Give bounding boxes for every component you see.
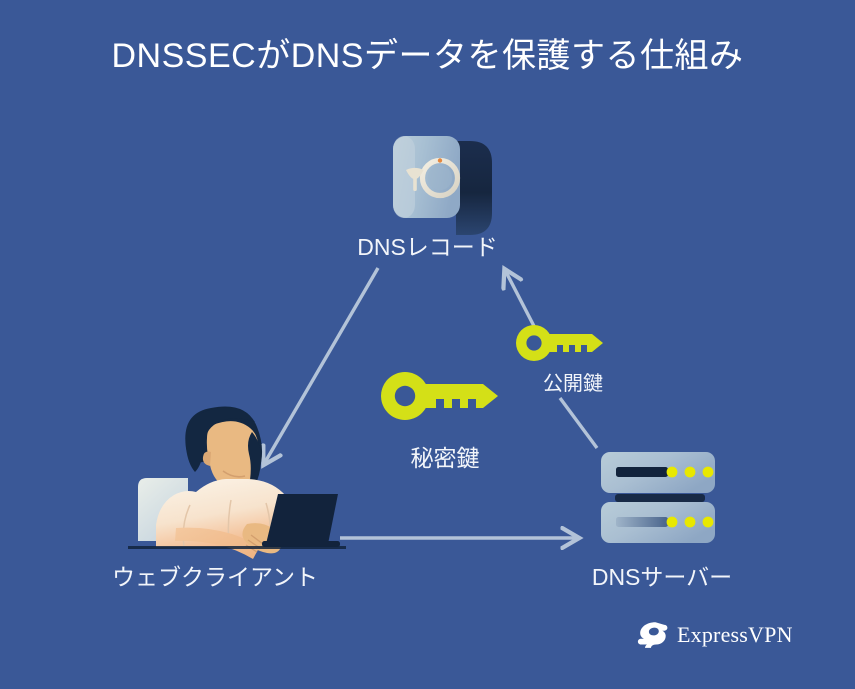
public-key-icon bbox=[516, 325, 603, 361]
keys-layer bbox=[0, 0, 855, 689]
private-key-label: 秘密鍵 bbox=[365, 439, 525, 473]
logo-text: ExpressVPN bbox=[677, 622, 793, 648]
public-key-label: 公開鍵 bbox=[493, 367, 653, 396]
infographic-canvas: DNSSECがDNSデータを保護する仕組み bbox=[0, 0, 855, 689]
private-key-icon bbox=[381, 372, 498, 420]
expressvpn-logo: ExpressVPN bbox=[634, 618, 793, 652]
expressvpn-e-icon bbox=[634, 618, 668, 652]
